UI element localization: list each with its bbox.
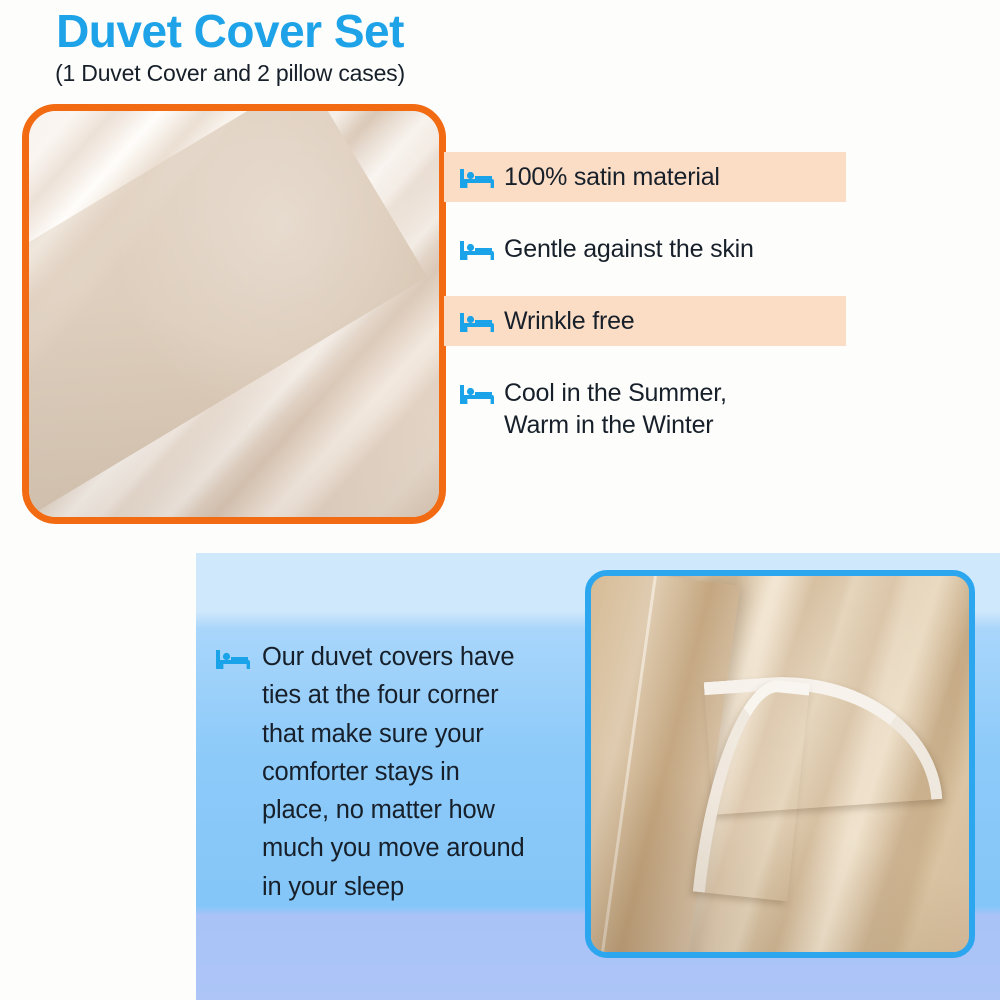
person-in-bed-icon bbox=[460, 381, 494, 407]
feature-item: 100% satin material bbox=[444, 152, 846, 202]
row-spacer bbox=[444, 346, 846, 368]
feature-item: Cool in the Summer, Warm in the Winter bbox=[444, 368, 846, 450]
feature-label: Wrinkle free bbox=[504, 305, 635, 337]
tie-satin-vignette bbox=[591, 576, 969, 952]
person-in-bed-icon bbox=[460, 309, 494, 335]
header-block: Duvet Cover Set (1 Duvet Cover and 2 pil… bbox=[0, 8, 460, 87]
fabric-photo bbox=[22, 104, 446, 524]
person-in-bed-icon bbox=[460, 237, 494, 263]
tie-photo bbox=[585, 570, 975, 958]
feature-item: Wrinkle free bbox=[444, 296, 846, 346]
tie-description-text: Our duvet covers have ties at the four c… bbox=[262, 638, 524, 906]
feature-item: Gentle against the skin bbox=[444, 224, 846, 274]
feature-label: Cool in the Summer, Warm in the Winter bbox=[504, 377, 727, 441]
page-title: Duvet Cover Set bbox=[0, 8, 460, 54]
person-in-bed-icon bbox=[216, 646, 250, 672]
feature-label: Gentle against the skin bbox=[504, 233, 754, 265]
row-spacer bbox=[444, 274, 846, 296]
feature-list: 100% satin material Gentle against the s… bbox=[444, 152, 846, 450]
feature-label: 100% satin material bbox=[504, 161, 720, 193]
person-in-bed-icon bbox=[460, 165, 494, 191]
page-subtitle: (1 Duvet Cover and 2 pillow cases) bbox=[0, 60, 460, 87]
tie-description-block: Our duvet covers have ties at the four c… bbox=[216, 638, 584, 906]
satin-fabric-vignette bbox=[29, 111, 439, 517]
row-spacer bbox=[444, 202, 846, 224]
